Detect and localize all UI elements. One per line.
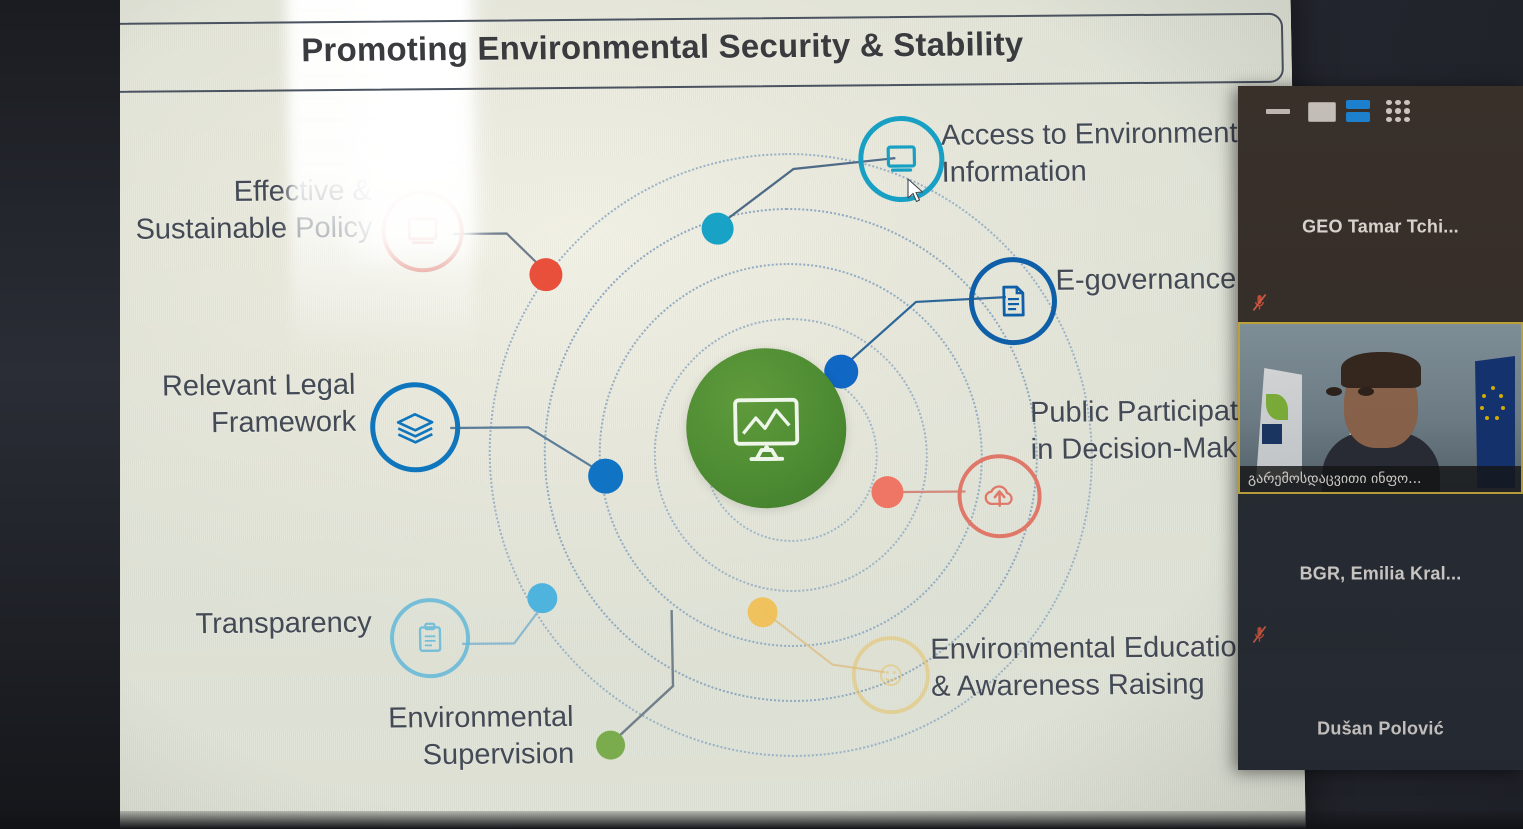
smiley-icon [872, 657, 909, 693]
icon-e-governance [968, 257, 1058, 346]
minimize-icon[interactable] [1266, 109, 1290, 114]
monitor-icon [403, 212, 442, 250]
microphone-muted-icon [1252, 293, 1267, 312]
room-wall-left [0, 0, 120, 829]
speaker-caption: გარემოსდაცვითი ინფო... [1240, 466, 1521, 492]
icon-public-participation [957, 454, 1043, 539]
participant-tile[interactable]: BGR, Emilia Kral... [1238, 494, 1523, 654]
page-title: Promoting Environmental Security & Stabi… [301, 25, 1024, 69]
icon-effective-sustainable-policy [381, 190, 465, 273]
active-speaker-tile[interactable]: გარემოსდაცვითი ინფო... [1238, 322, 1523, 494]
node-dot-environmental-education [747, 597, 778, 627]
icon-access-to-environmental-information [858, 116, 946, 203]
speaker-eye-left [1326, 387, 1342, 396]
icon-relevant-legal-framework [369, 382, 461, 473]
speaker-view-icon[interactable] [1346, 100, 1370, 122]
document-icon [993, 281, 1034, 321]
participant-name: გარემოსდაცვითი ინფო... [1240, 471, 1422, 487]
single-view-icon[interactable] [1308, 102, 1336, 122]
participant-tile[interactable]: Dušan Polović [1238, 654, 1523, 770]
node-dot-transparency [527, 583, 558, 613]
monitor-chart-icon [725, 387, 809, 470]
room-desk-edge [0, 811, 1523, 829]
microphone-muted-icon [1252, 625, 1267, 644]
video-conference-panel[interactable]: GEO Tamar Tchi... [1238, 86, 1523, 770]
node-dot-public-participation [871, 476, 904, 508]
monitor-icon [881, 139, 922, 179]
label-environmental-supervision: Environmental Supervision [183, 699, 574, 777]
icon-transparency [389, 598, 470, 679]
participant-name: BGR, Emilia Kral... [1238, 564, 1523, 585]
cloud-upload-icon [978, 475, 1021, 517]
photographed-screen-scene: Promoting Environmental Security & Stabi… [0, 0, 1523, 829]
node-dot-effective-sustainable-policy [529, 258, 563, 291]
node-dot-relevant-legal-framework [588, 458, 624, 493]
node-dot-environmental-supervision [596, 730, 626, 759]
icon-environmental-education [851, 636, 930, 715]
presentation-screen: Promoting Environmental Security & Stabi… [50, 0, 1306, 829]
node-dot-access-to-environmental-information [701, 213, 734, 245]
mouse-cursor [906, 178, 926, 204]
participant-name: Dušan Polović [1238, 718, 1523, 739]
participant-name: GEO Tamar Tchi... [1238, 217, 1523, 238]
clipboard-icon [412, 620, 449, 656]
layers-icon [393, 405, 438, 449]
participant-tile[interactable]: GEO Tamar Tchi... [1238, 132, 1523, 322]
speaker-eye-right [1358, 387, 1374, 396]
center-hub [685, 348, 848, 509]
video-panel-toolbar [1238, 86, 1523, 132]
gallery-view-icon[interactable] [1386, 100, 1410, 122]
